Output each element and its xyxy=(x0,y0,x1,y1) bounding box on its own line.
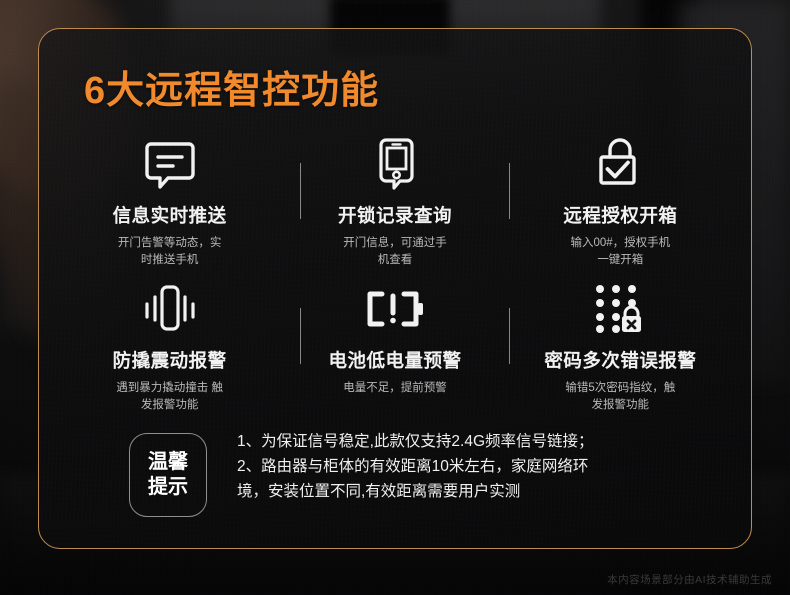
feature-item-tamper-alarm: 防撬震动报警 遇到暴力撬动撞击 触 发报警功能 xyxy=(57,272,282,417)
feature-title: 远程授权开箱 xyxy=(563,202,677,228)
unlocked-padlock-check-icon xyxy=(591,133,649,195)
feature-title: 防撬震动报警 xyxy=(113,347,227,373)
low-battery-warning-icon xyxy=(362,278,428,340)
vibration-alert-icon xyxy=(140,278,200,340)
feature-desc-line: 开门信息，可通过手 xyxy=(343,237,447,249)
page-title: 6大远程智控功能 xyxy=(84,59,379,114)
feature-desc-line: 输错5次密码指纹，触 xyxy=(565,382,675,394)
feature-description: 开门信息，可通过手 机查看 xyxy=(343,235,447,268)
feature-item-wrong-password-alarm: 密码多次错误报警 输错5次密码指纹，触 发报警功能 xyxy=(508,272,733,417)
feature-description: 电量不足，提前预警 xyxy=(343,380,447,397)
content-card: 6大远程智控功能 信息实时推送 开门告警等动态，实 时推送手机 xyxy=(38,28,752,549)
feature-desc-line: 时推送手机 xyxy=(141,254,199,266)
tips-line-3: 境，安装位置不同,有效距离需要用户实测 xyxy=(237,479,594,504)
promo-graphic: 6大远程智控功能 信息实时推送 开门告警等动态，实 时推送手机 xyxy=(0,0,790,595)
feature-description: 输入00#，授权手机 一键开箱 xyxy=(570,235,670,268)
message-bubble-icon xyxy=(142,133,198,195)
feature-title: 密码多次错误报警 xyxy=(544,347,696,373)
feature-desc-line: 发报警功能 xyxy=(141,399,199,411)
feature-description: 输错5次密码指纹，触 发报警功能 xyxy=(565,380,675,413)
ai-disclaimer-footnote: 本内容场景部分由AI技术辅助生成 xyxy=(607,572,772,587)
tips-text: 1、为保证信号稳定,此款仅支持2.4G频率信号链接； 2、路由器与柜体的有效距离… xyxy=(237,429,594,504)
keypad-lock-error-icon xyxy=(592,278,648,340)
feature-title: 信息实时推送 xyxy=(113,202,227,228)
feature-desc-line: 一键开箱 xyxy=(597,254,643,266)
feature-desc-line: 发报警功能 xyxy=(592,399,650,411)
feature-desc-line: 输入00#，授权手机 xyxy=(570,237,670,249)
feature-title: 开锁记录查询 xyxy=(338,202,452,228)
feature-item-message-push: 信息实时推送 开门告警等动态，实 时推送手机 xyxy=(57,127,282,272)
smartphone-icon xyxy=(367,133,423,195)
feature-description: 遇到暴力撬动撞击 触 发报警功能 xyxy=(116,380,223,413)
feature-desc-line: 电量不足，提前预警 xyxy=(343,382,447,394)
feature-item-unlock-records: 开锁记录查询 开门信息，可通过手 机查看 xyxy=(282,127,507,272)
feature-desc-line: 遇到暴力撬动撞击 触 xyxy=(116,382,223,394)
feature-desc-line: 开门告警等动态，实 xyxy=(118,237,222,249)
tips-badge-line1: 温馨 xyxy=(148,450,188,475)
tips-line-2: 2、路由器与柜体的有效距离10米左右，家庭网络环 xyxy=(237,454,594,479)
feature-grid: 信息实时推送 开门告警等动态，实 时推送手机 开锁记录查询 xyxy=(57,127,733,417)
feature-item-low-battery: 电池低电量预警 电量不足，提前预警 xyxy=(282,272,507,417)
tips-line-1: 1、为保证信号稳定,此款仅支持2.4G频率信号链接； xyxy=(237,429,594,454)
tips-badge-line2: 提示 xyxy=(148,475,188,500)
feature-title: 电池低电量预警 xyxy=(328,347,461,373)
feature-desc-line: 机查看 xyxy=(378,254,413,266)
tips-section: 温馨 提示 1、为保证信号稳定,此款仅支持2.4G频率信号链接； 2、路由器与柜… xyxy=(129,429,729,529)
feature-item-remote-authorize: 远程授权开箱 输入00#，授权手机 一键开箱 xyxy=(508,127,733,272)
feature-description: 开门告警等动态，实 时推送手机 xyxy=(118,235,222,268)
tips-badge: 温馨 提示 xyxy=(129,433,207,517)
